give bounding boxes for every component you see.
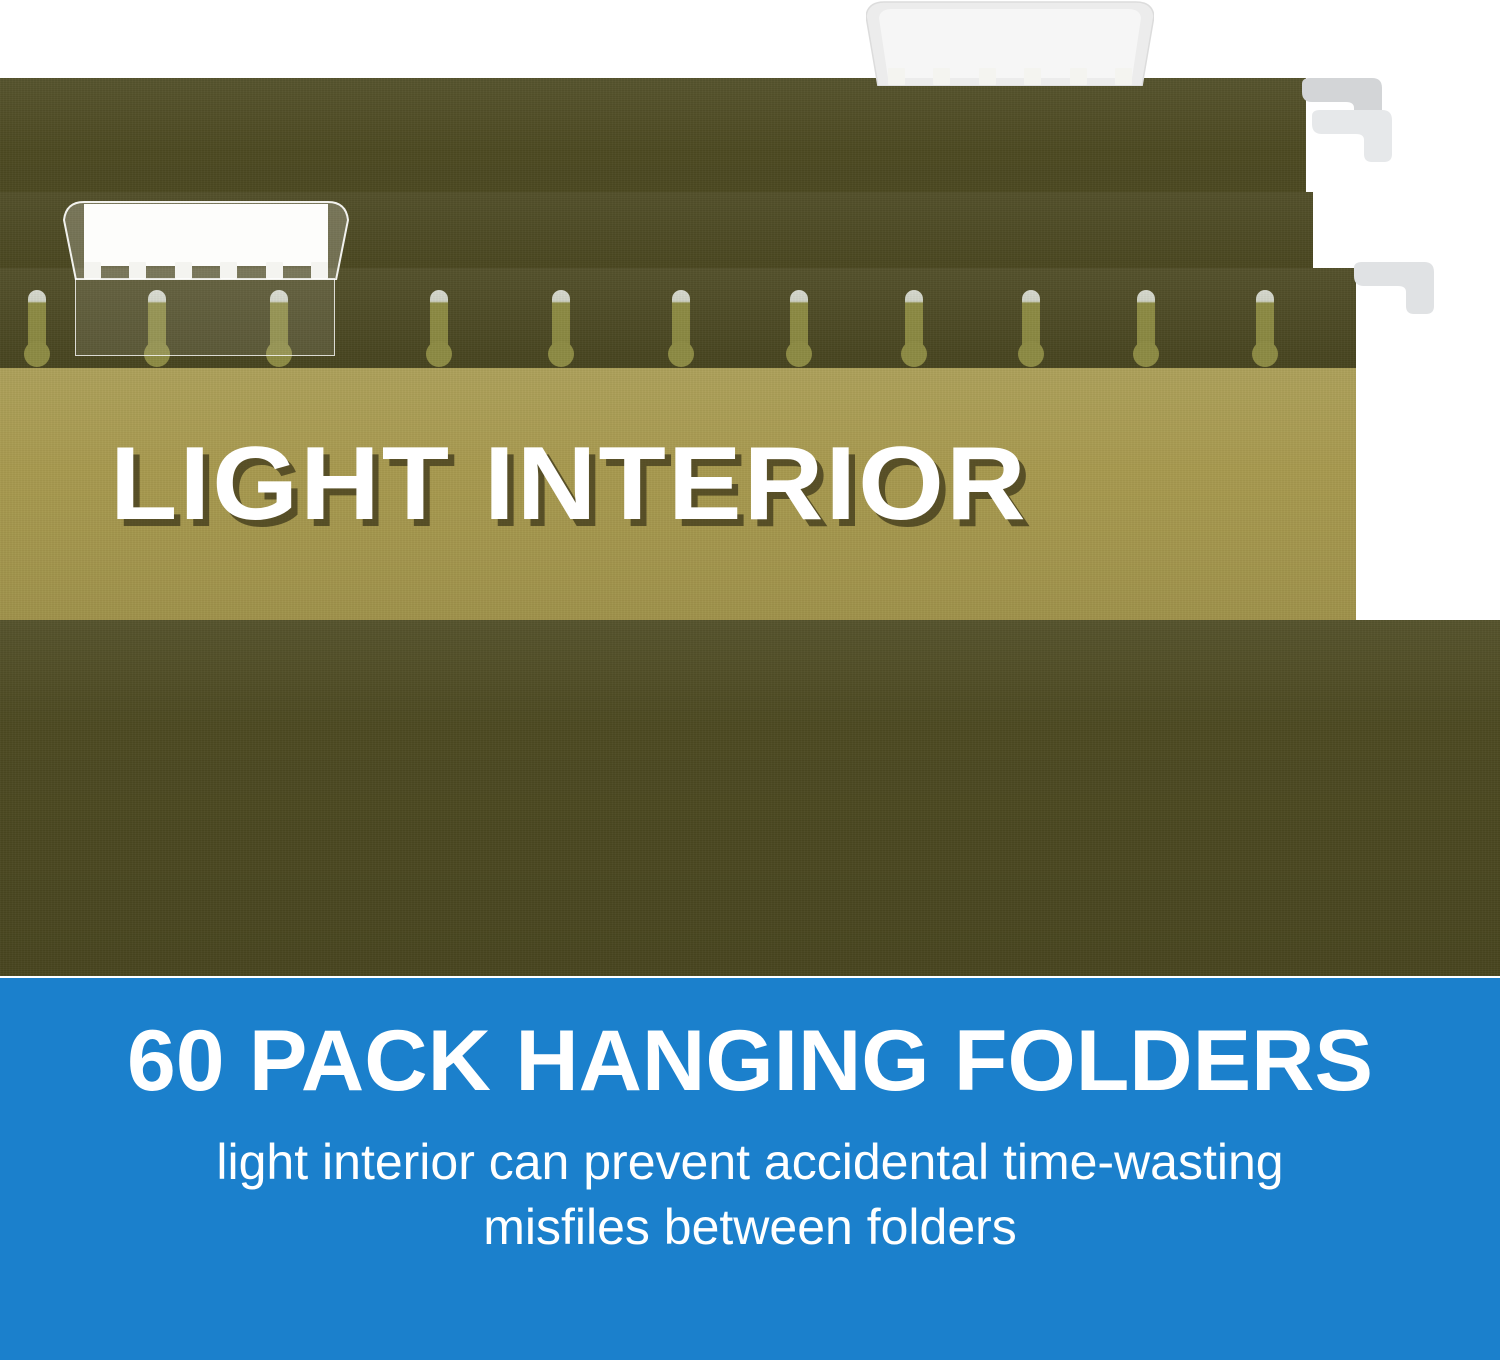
promo-banner-subtitle-line2: misfiles between folders <box>40 1195 1460 1260</box>
rod-hook-lower-right-icon <box>1352 262 1438 322</box>
promo-banner: 60 PACK HANGING FOLDERS light interior c… <box>0 978 1500 1360</box>
plastic-index-tab-left <box>62 198 350 280</box>
tab-tooth <box>129 262 146 279</box>
left-tab-teeth <box>62 262 350 279</box>
tab-slot-bulb <box>1018 341 1044 367</box>
tab-slot-bulb <box>426 341 452 367</box>
tab-slot <box>28 290 46 360</box>
tab-slot <box>1137 290 1155 360</box>
tab-tooth <box>979 68 996 85</box>
tab-tooth <box>888 68 905 85</box>
tab-slot <box>790 290 808 360</box>
tab-slot <box>905 290 923 360</box>
rod-hook-middle-right-icon <box>1310 110 1396 170</box>
tab-slot-bulb <box>548 341 574 367</box>
tab-tooth <box>1024 68 1041 85</box>
tab-tooth <box>175 262 192 279</box>
tab-slot-bulb <box>786 341 812 367</box>
plastic-index-tab-top <box>866 0 1154 86</box>
promo-banner-subtitle-line1: light interior can prevent accidental ti… <box>40 1130 1460 1195</box>
tab-slot <box>552 290 570 360</box>
promo-banner-title: 60 PACK HANGING FOLDERS <box>0 1016 1500 1106</box>
tab-slot <box>672 290 690 360</box>
tab-slot-bulb <box>24 341 50 367</box>
light-interior-callout: LIGHT INTERIOR <box>110 432 1361 536</box>
tab-tooth <box>1070 68 1087 85</box>
tab-tooth <box>1115 68 1132 85</box>
folder-front-shading <box>0 620 1500 976</box>
top-tab-teeth <box>866 68 1154 85</box>
tab-slot <box>1256 290 1274 360</box>
tab-slot-bulb <box>668 341 694 367</box>
tab-slot-bulb <box>901 341 927 367</box>
left-tab-transparent-window <box>75 278 335 356</box>
product-photo: LIGHT INTERIOR <box>0 0 1500 978</box>
tab-tooth <box>311 262 328 279</box>
tab-tooth <box>220 262 237 279</box>
tab-slot <box>1022 290 1040 360</box>
tab-tooth <box>933 68 950 85</box>
product-marketing-image: LIGHT INTERIOR <box>0 0 1500 1360</box>
tab-slot <box>430 290 448 360</box>
promo-banner-subtitle: light interior can prevent accidental ti… <box>0 1130 1500 1260</box>
tab-tooth <box>84 262 101 279</box>
tab-slot-bulb <box>1133 341 1159 367</box>
tab-tooth <box>266 262 283 279</box>
tab-slot-bulb <box>1252 341 1278 367</box>
folder-panel-front <box>0 620 1500 976</box>
